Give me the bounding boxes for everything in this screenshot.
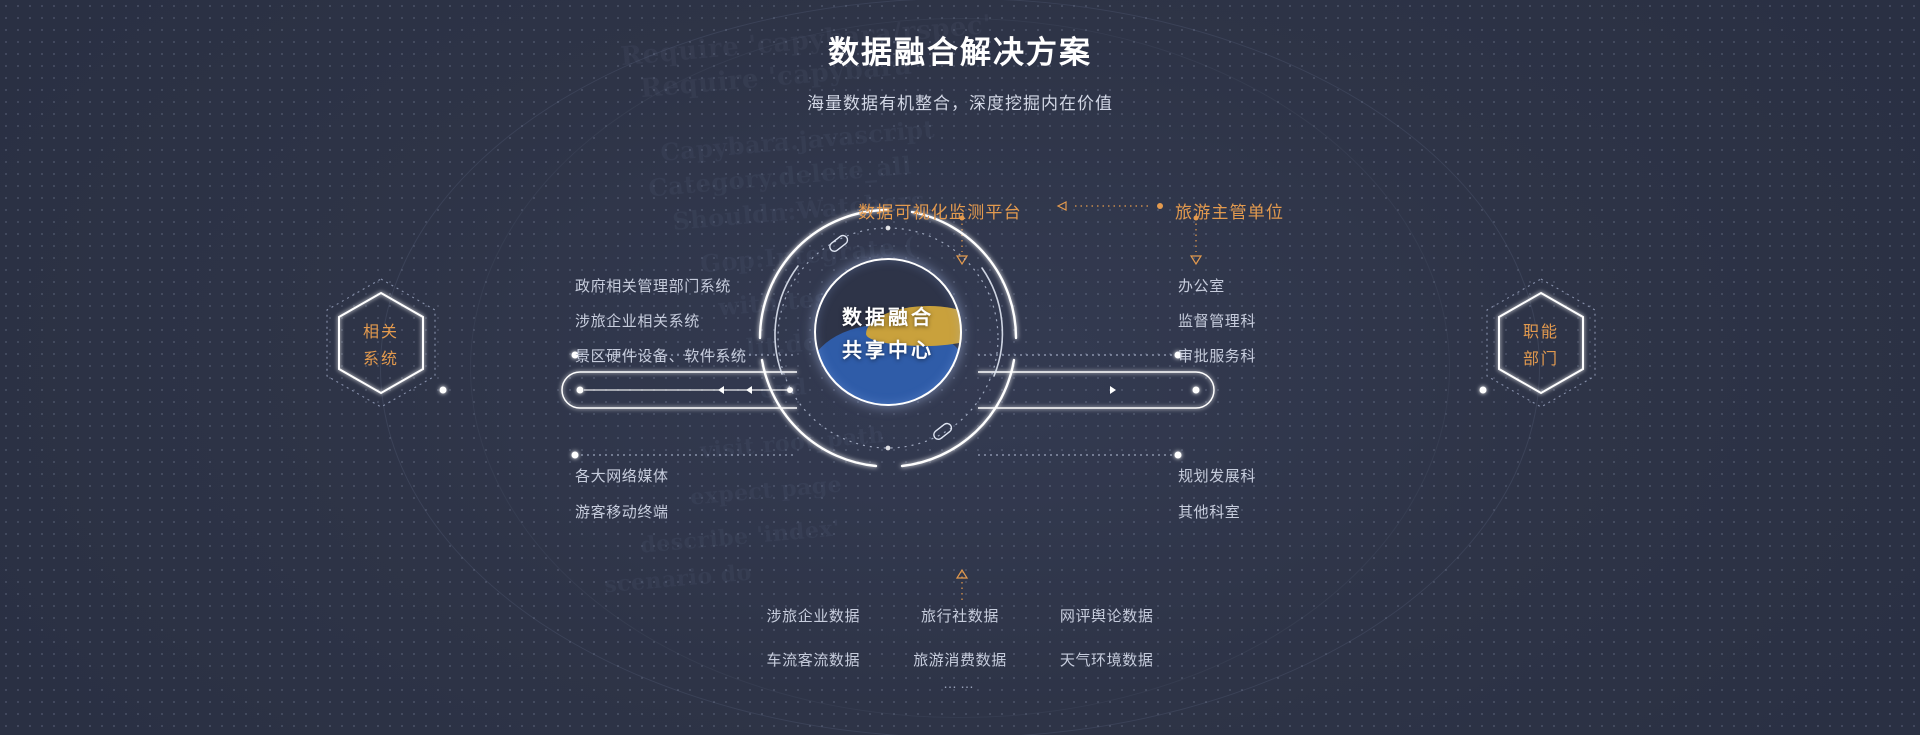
page-subtitle: 海量数据有机整合，深度挖掘内在价值 xyxy=(0,89,1920,114)
hexagon-left-line-2: 系统 xyxy=(363,345,399,369)
bottom-data-item: 天气环境数据 xyxy=(1033,649,1180,670)
label-left-source-1: 政府相关管理部门系统 xyxy=(575,275,731,296)
center-line-2: 共享中心 xyxy=(842,334,934,363)
bottom-data-more: …… xyxy=(740,675,1180,691)
hexagon-left-label: 相关 系统 xyxy=(333,289,429,397)
center-line-1: 数据融合 xyxy=(842,301,934,330)
infographic-canvas: Require 'capybara/rspec'Require 'capybar… xyxy=(0,0,1920,735)
background-code-line: describe 'index' xyxy=(639,515,841,558)
hexagon-right-line-1: 职能 xyxy=(1523,318,1559,342)
label-right-dept-4: 规划发展科 xyxy=(1178,465,1256,486)
label-right-dept-2: 监督管理科 xyxy=(1178,310,1256,331)
label-tourism-authority[interactable]: 旅游主管单位 xyxy=(1175,198,1284,223)
background-code-line: scenario do xyxy=(603,560,753,599)
hexagon-functional-departments[interactable]: 职能 部门 xyxy=(1493,289,1589,397)
bottom-data-item: 网评舆论数据 xyxy=(1033,605,1180,626)
hexagon-related-systems[interactable]: 相关 系统 xyxy=(333,289,429,397)
label-left-source-3: 景区硬件设备、软件系统 xyxy=(575,345,747,366)
label-left-source-5: 游客移动终端 xyxy=(575,501,669,522)
hexagon-left-line-1: 相关 xyxy=(363,318,399,342)
hexagon-right-line-2: 部门 xyxy=(1523,345,1559,369)
background-code-line: Capybara.javascript xyxy=(659,114,936,167)
bottom-data-item: 旅行社数据 xyxy=(887,605,1034,626)
label-visualization-platform[interactable]: 数据可视化监测平台 xyxy=(858,198,1022,223)
center-label: 数据融合 共享中心 xyxy=(814,258,962,406)
bottom-data-item: 旅游消费数据 xyxy=(887,649,1034,670)
center-hub: 数据融合 共享中心 xyxy=(788,198,988,478)
bottom-data-item: 涉旅企业数据 xyxy=(740,605,887,626)
header: 数据融合解决方案 海量数据有机整合，深度挖掘内在价值 xyxy=(0,34,1920,114)
label-left-source-4: 各大网络媒体 xyxy=(575,465,669,486)
label-right-dept-5: 其他科室 xyxy=(1178,501,1240,522)
label-left-source-2: 涉旅企业相关系统 xyxy=(575,310,700,331)
label-right-dept-1: 办公室 xyxy=(1178,275,1225,296)
hexagon-right-label: 职能 部门 xyxy=(1493,289,1589,397)
page-title: 数据融合解决方案 xyxy=(0,34,1920,73)
label-right-dept-3: 审批服务科 xyxy=(1178,345,1256,366)
bottom-data-labels: 涉旅企业数据旅行社数据网评舆论数据车流客流数据旅游消费数据天气环境数据 xyxy=(740,605,1180,670)
bottom-data-item: 车流客流数据 xyxy=(740,649,887,670)
